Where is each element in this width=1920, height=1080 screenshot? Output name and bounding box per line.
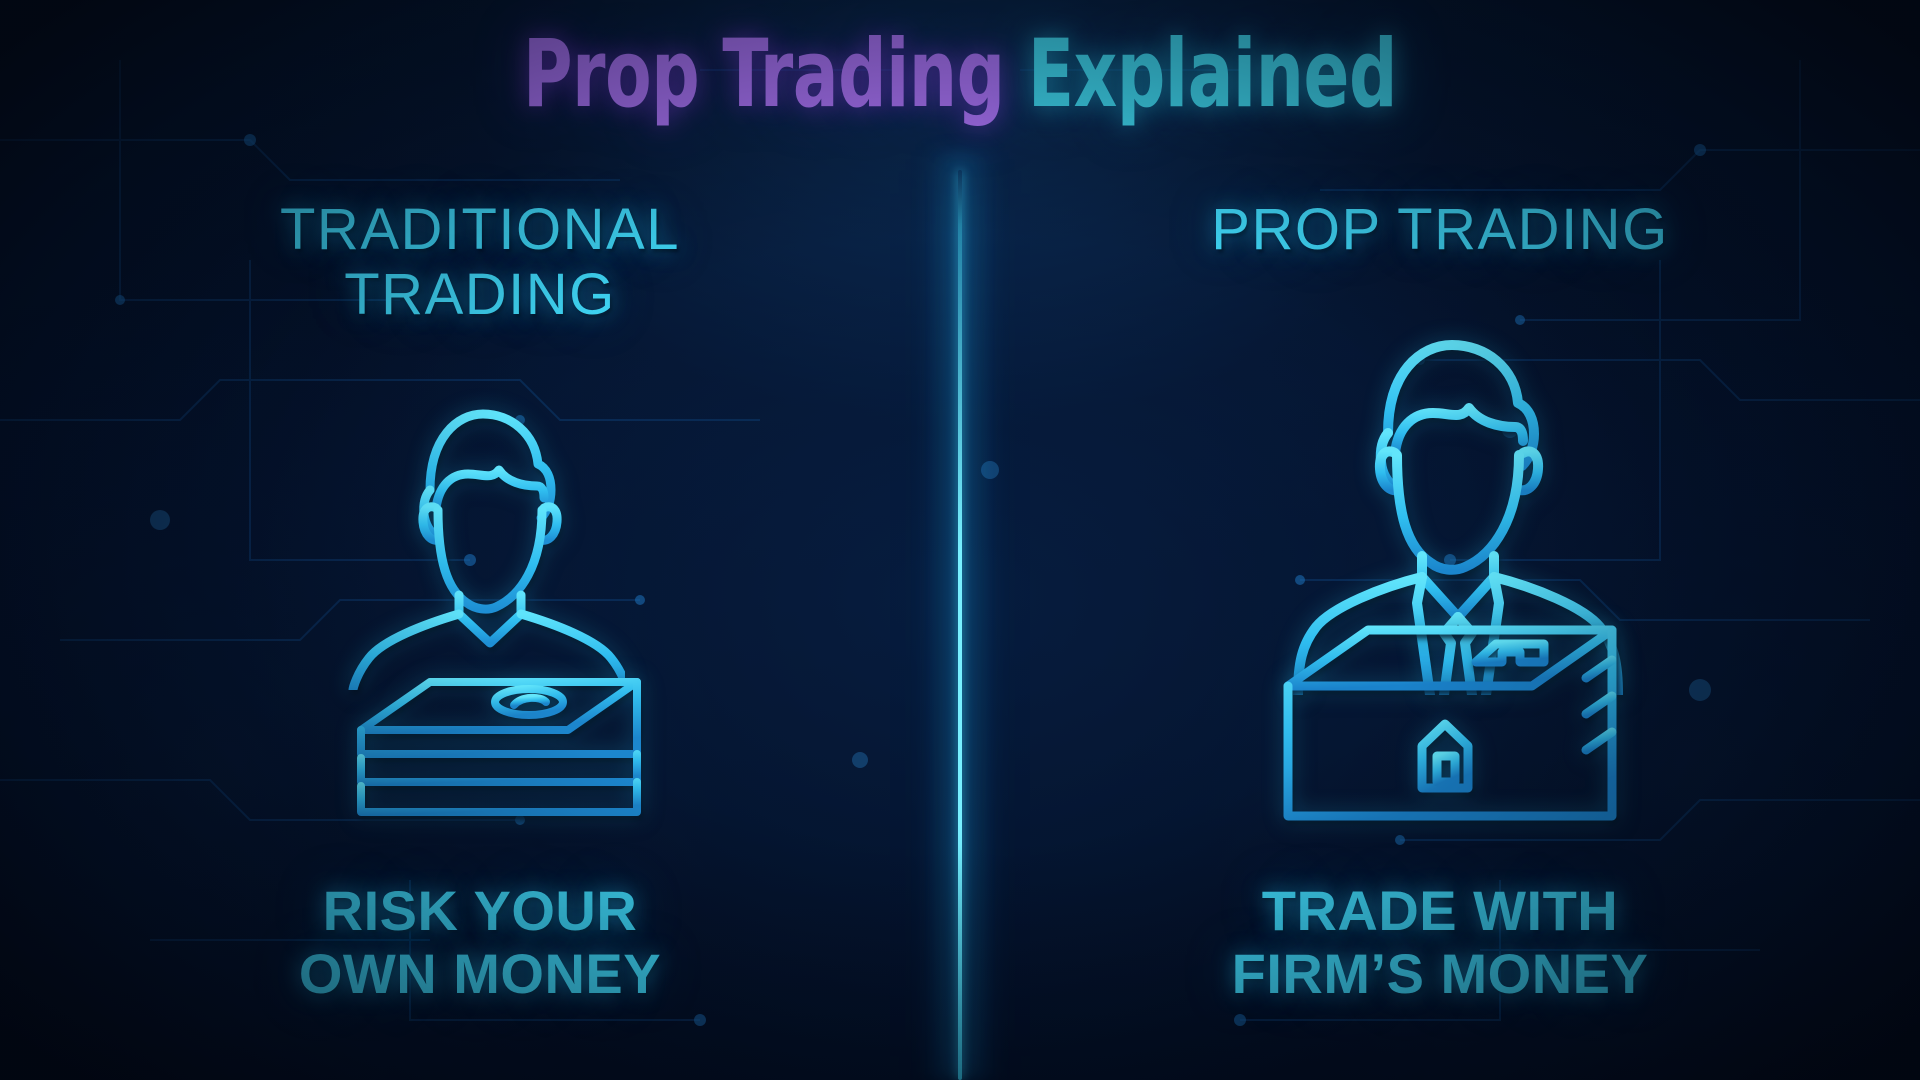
left-caption: RISK YOUR OWN MONEY <box>0 880 960 1005</box>
left-caption-line-1: RISK YOUR <box>0 880 960 943</box>
cash-stack-bank-icon <box>1280 620 1620 825</box>
right-caption-line-2: FIRM’S MONEY <box>960 943 1920 1006</box>
right-heading: PROP TRADING <box>960 198 1920 263</box>
trader-person-icon <box>335 390 625 690</box>
right-caption-line-1: TRADE WITH <box>960 880 1920 943</box>
left-heading: TRADITIONAL TRADING <box>0 198 960 328</box>
left-caption-line-2: OWN MONEY <box>0 943 960 1006</box>
right-caption: TRADE WITH FIRM’S MONEY <box>960 880 1920 1005</box>
cash-stack-icon <box>354 672 644 822</box>
column-traditional-trading: TRADITIONAL TRADING <box>0 0 960 1080</box>
column-prop-trading: PROP TRADING <box>960 0 1920 1080</box>
infographic-canvas: Prop Trading Explained TRADITIONAL TRADI… <box>0 0 1920 1080</box>
left-heading-line-1: TRADITIONAL <box>0 198 960 263</box>
left-heading-line-2: TRADING <box>0 263 960 328</box>
right-heading-line-1: PROP TRADING <box>960 198 1920 263</box>
